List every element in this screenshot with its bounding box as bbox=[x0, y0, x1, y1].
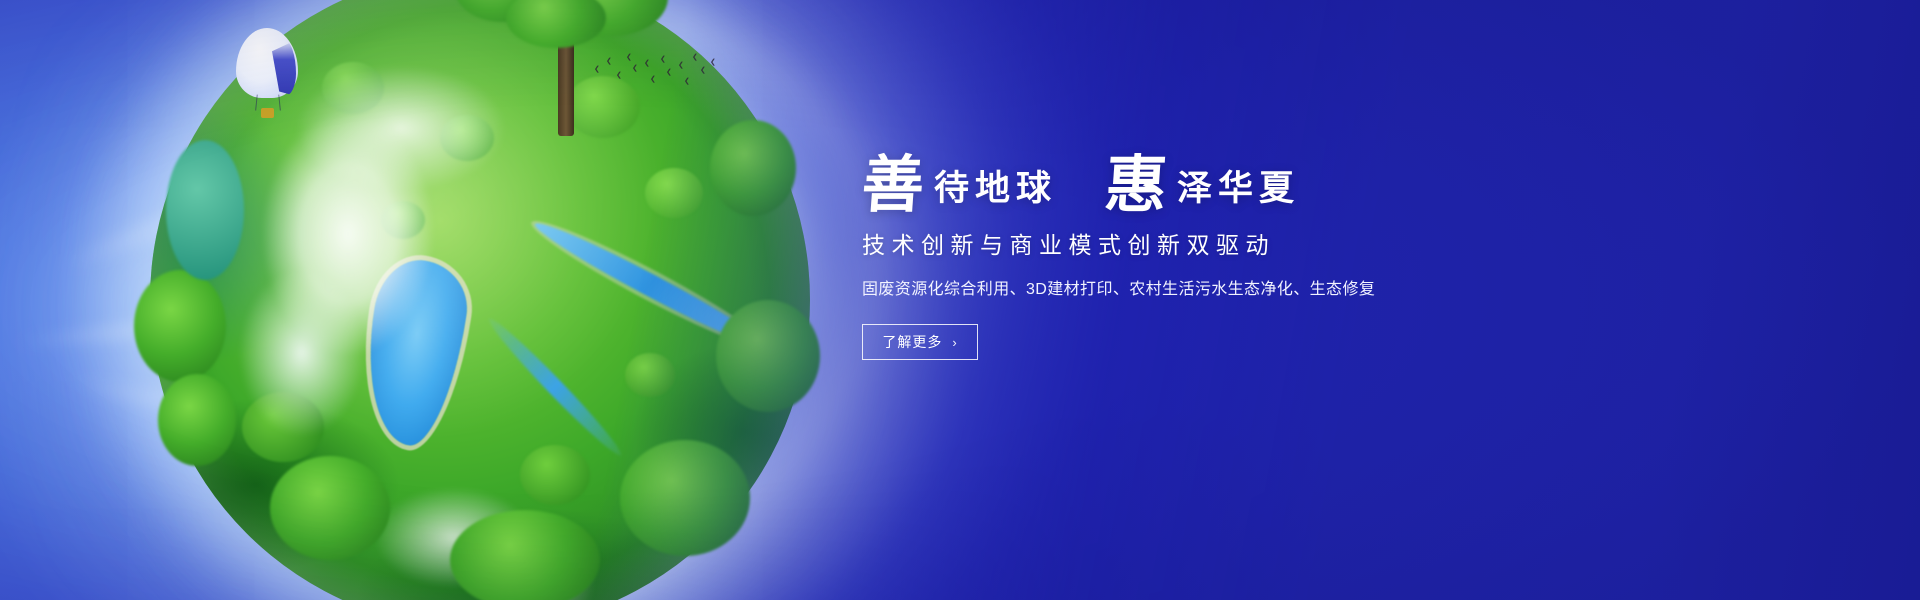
edge-tree bbox=[716, 300, 820, 412]
edge-tree bbox=[166, 140, 244, 280]
banner-description: 固废资源化综合利用、3D建材打印、农村生活污水生态净化、生态修复 bbox=[862, 278, 1562, 302]
edge-tree bbox=[158, 374, 236, 466]
tree-canopy bbox=[506, 0, 606, 48]
edge-tree bbox=[710, 120, 796, 216]
banner-subtitle: 技术创新与商业模式创新双驱动 bbox=[862, 230, 1562, 260]
headline-text-zehuaxia: 泽华夏 bbox=[1177, 168, 1300, 216]
headline-char-shan: 善 bbox=[860, 154, 926, 216]
edge-tree bbox=[134, 270, 226, 382]
edge-tree bbox=[270, 456, 390, 560]
edge-tree bbox=[620, 440, 750, 556]
headline-char-hui: 惠 bbox=[1103, 154, 1169, 216]
hot-air-balloon-icon bbox=[236, 28, 298, 120]
banner-headline: 善 待地球 惠 泽华夏 bbox=[862, 132, 1562, 216]
learn-more-label: 了解更多 bbox=[882, 332, 942, 352]
banner-copy: 善 待地球 惠 泽华夏 技术创新与商业模式创新双驱动 固废资源化综合利用、3D建… bbox=[862, 132, 1562, 360]
chevron-right-icon: › bbox=[952, 335, 957, 350]
balloon-basket bbox=[261, 108, 274, 118]
birds-flock-icon: ❮ ❮ ❮ ❮ ❮ ❮ ❮ ❮ ❮ ❮ ❮ ❮ ❮ ❮ bbox=[592, 52, 722, 92]
hero-banner: ❮ ❮ ❮ ❮ ❮ ❮ ❮ ❮ ❮ ❮ ❮ ❮ ❮ ❮ 善 待地球 惠 泽华夏 … bbox=[0, 0, 1920, 600]
edge-tree bbox=[450, 510, 600, 600]
learn-more-button[interactable]: 了解更多 › bbox=[862, 324, 978, 360]
headline-text-daidiqiu: 待地球 bbox=[934, 168, 1057, 216]
